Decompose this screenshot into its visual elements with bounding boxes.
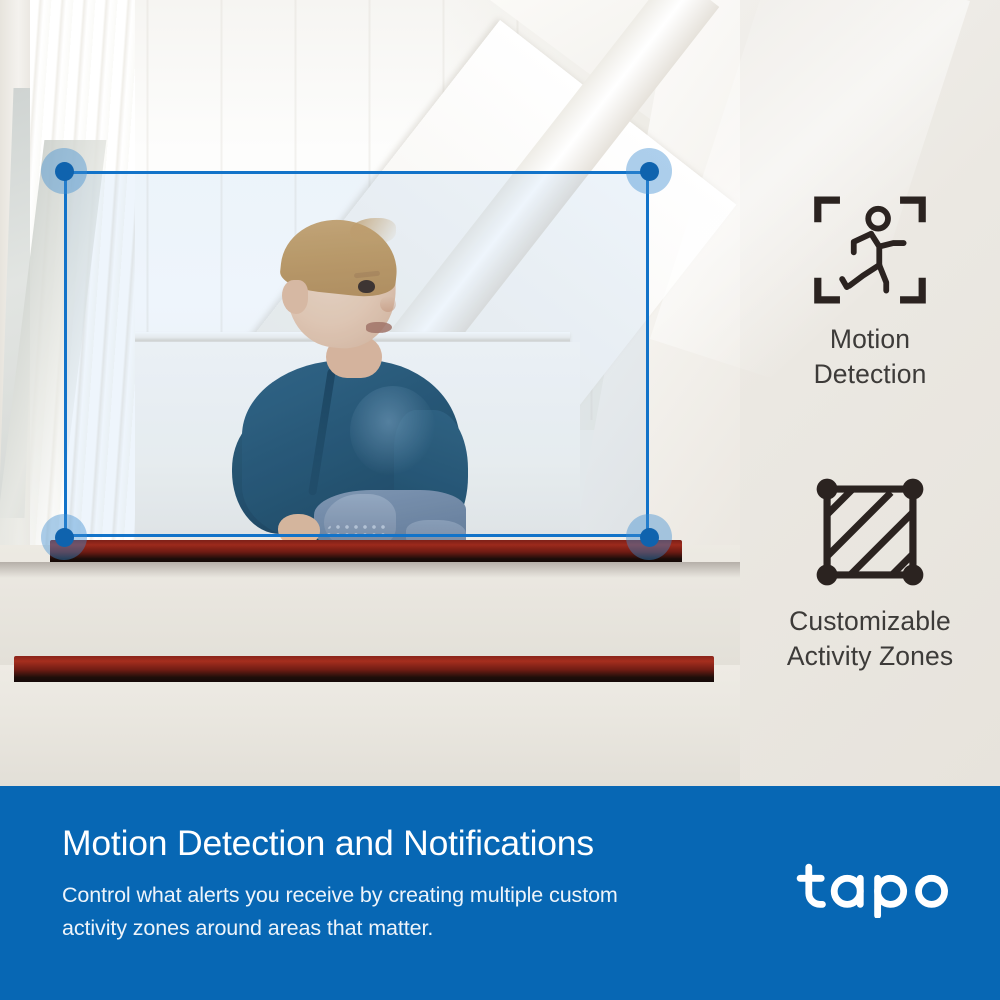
- zone-handle-bottom-right[interactable]: [626, 514, 672, 560]
- feature-label-activity-zones: Customizable Activity Zones: [787, 604, 953, 674]
- activity-zone-rectangle[interactable]: [64, 171, 649, 537]
- stair-nosing-upper: [50, 540, 682, 562]
- brand-area: [796, 786, 1000, 918]
- banner-text-block: Motion Detection and Notifications Contr…: [0, 786, 618, 945]
- stair-tread-lower: [0, 665, 740, 786]
- zone-handle-bottom-left[interactable]: [41, 514, 87, 560]
- banner-subtitle: Control what alerts you receive by creat…: [62, 879, 618, 946]
- zone-handle-top-right[interactable]: [626, 148, 672, 194]
- stair-riser-shadow: [0, 562, 740, 578]
- feature-activity-zones: Customizable Activity Zones: [740, 474, 1000, 674]
- tapo-logo: [796, 856, 958, 918]
- motion-detection-icon: [812, 192, 928, 308]
- banner-title: Motion Detection and Notifications: [62, 826, 618, 862]
- bottom-banner: Motion Detection and Notifications Contr…: [0, 786, 1000, 1000]
- feature-motion-detection: Motion Detection: [740, 192, 1000, 392]
- activity-zones-icon: [812, 474, 928, 590]
- stair-nosing-lower: [14, 656, 714, 682]
- camera-view-photo: [0, 0, 740, 786]
- zone-handle-top-left[interactable]: [41, 148, 87, 194]
- feature-panel: Motion Detection: [740, 0, 1000, 786]
- product-feature-card: Motion Detection: [0, 0, 1000, 1000]
- feature-label-motion-detection: Motion Detection: [814, 322, 927, 392]
